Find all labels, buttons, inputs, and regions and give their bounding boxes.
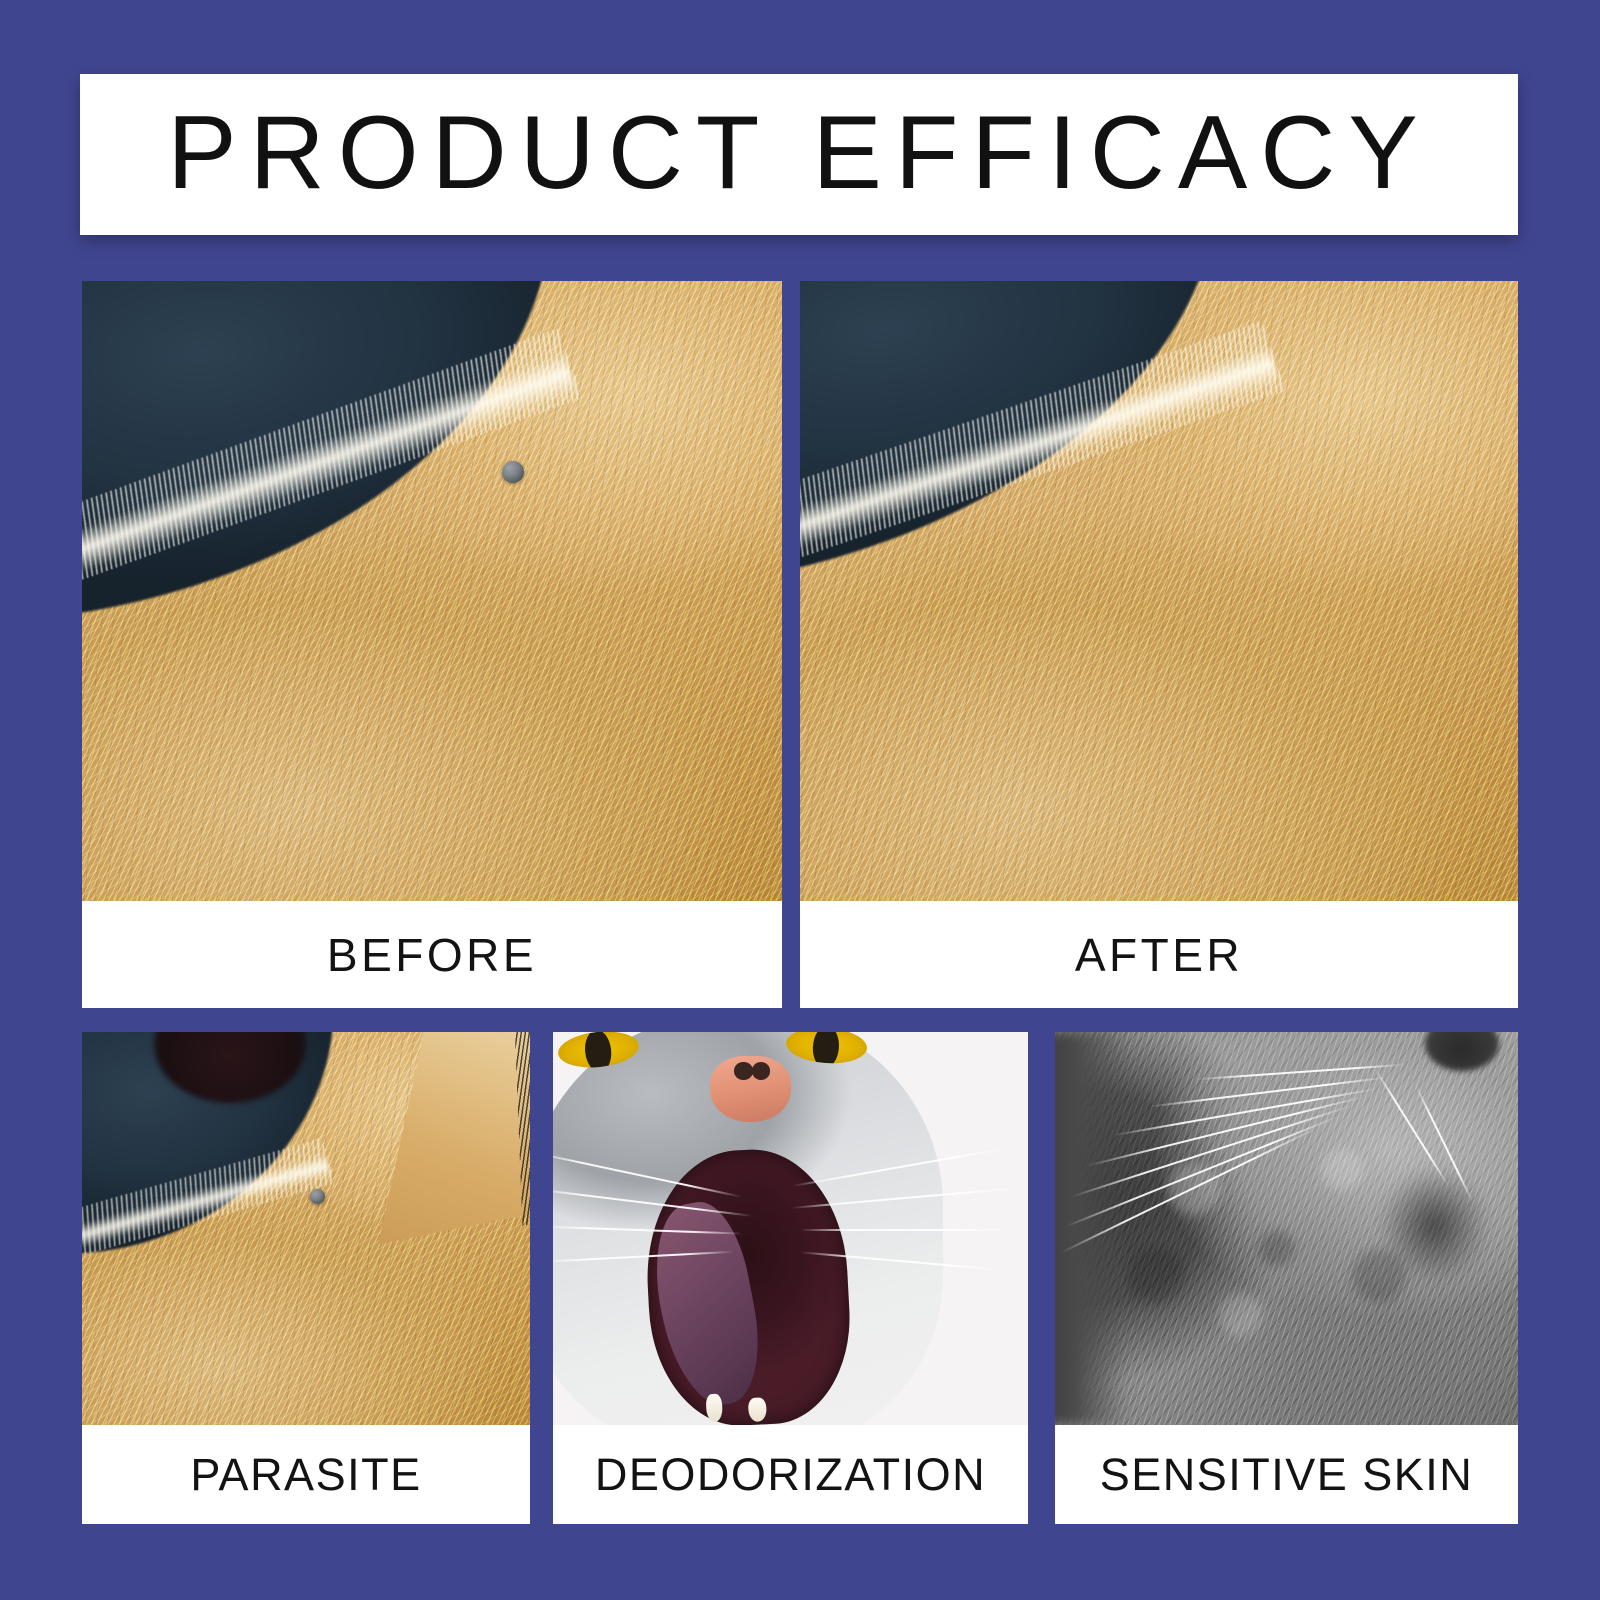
parasite-card[interactable]: PARASITE bbox=[82, 1032, 530, 1524]
parasite-caption-label: PARASITE bbox=[190, 1452, 421, 1497]
page-title-bar: PRODUCT EFFICACY bbox=[80, 74, 1518, 235]
cat-fur-image bbox=[800, 281, 1518, 901]
whisker-group bbox=[1055, 1032, 1518, 1425]
parasite-photo bbox=[82, 1032, 530, 1425]
sensitive-skin-photo bbox=[1055, 1032, 1518, 1425]
before-caption: BEFORE bbox=[82, 901, 782, 1008]
sensitive-skin-caption-label: SENSITIVE SKIN bbox=[1100, 1452, 1474, 1497]
whisker-group bbox=[553, 1032, 1028, 1425]
whisker bbox=[800, 1251, 999, 1270]
page-title: PRODUCT EFFICACY bbox=[167, 101, 1431, 205]
deodorization-photo bbox=[553, 1032, 1028, 1425]
parasite-caption: PARASITE bbox=[82, 1425, 530, 1524]
grayscale-cat-fur-image bbox=[1055, 1032, 1518, 1425]
whisker bbox=[553, 1225, 743, 1234]
before-caption-label: BEFORE bbox=[327, 932, 537, 978]
sensitive-skin-caption: SENSITIVE SKIN bbox=[1055, 1425, 1518, 1524]
whisker bbox=[553, 1151, 741, 1198]
after-caption: AFTER bbox=[800, 901, 1518, 1008]
whisker bbox=[553, 1251, 733, 1263]
after-photo bbox=[800, 281, 1518, 901]
whisker bbox=[1060, 1126, 1319, 1254]
parasite-tick-icon bbox=[502, 461, 524, 483]
sensitive-skin-card[interactable]: SENSITIVE SKIN bbox=[1055, 1032, 1518, 1524]
before-photo bbox=[82, 281, 782, 901]
whisker bbox=[792, 1147, 1008, 1187]
whisker bbox=[791, 1187, 1018, 1209]
whisker bbox=[1415, 1084, 1474, 1201]
before-card[interactable]: BEFORE bbox=[82, 281, 782, 1008]
yawning-cat-image bbox=[553, 1032, 1028, 1425]
cat-fur-image bbox=[82, 281, 782, 901]
whisker bbox=[1374, 1068, 1449, 1187]
deodorization-caption: DEODORIZATION bbox=[553, 1425, 1028, 1524]
whisker bbox=[1065, 1114, 1340, 1227]
cat-fur-image bbox=[82, 1032, 530, 1425]
deodorization-card[interactable]: DEODORIZATION bbox=[553, 1032, 1028, 1524]
after-caption-label: AFTER bbox=[1075, 932, 1243, 978]
whisker bbox=[800, 1229, 1009, 1231]
deodorization-caption-label: DEODORIZATION bbox=[595, 1452, 986, 1497]
after-card[interactable]: AFTER bbox=[800, 281, 1518, 1008]
